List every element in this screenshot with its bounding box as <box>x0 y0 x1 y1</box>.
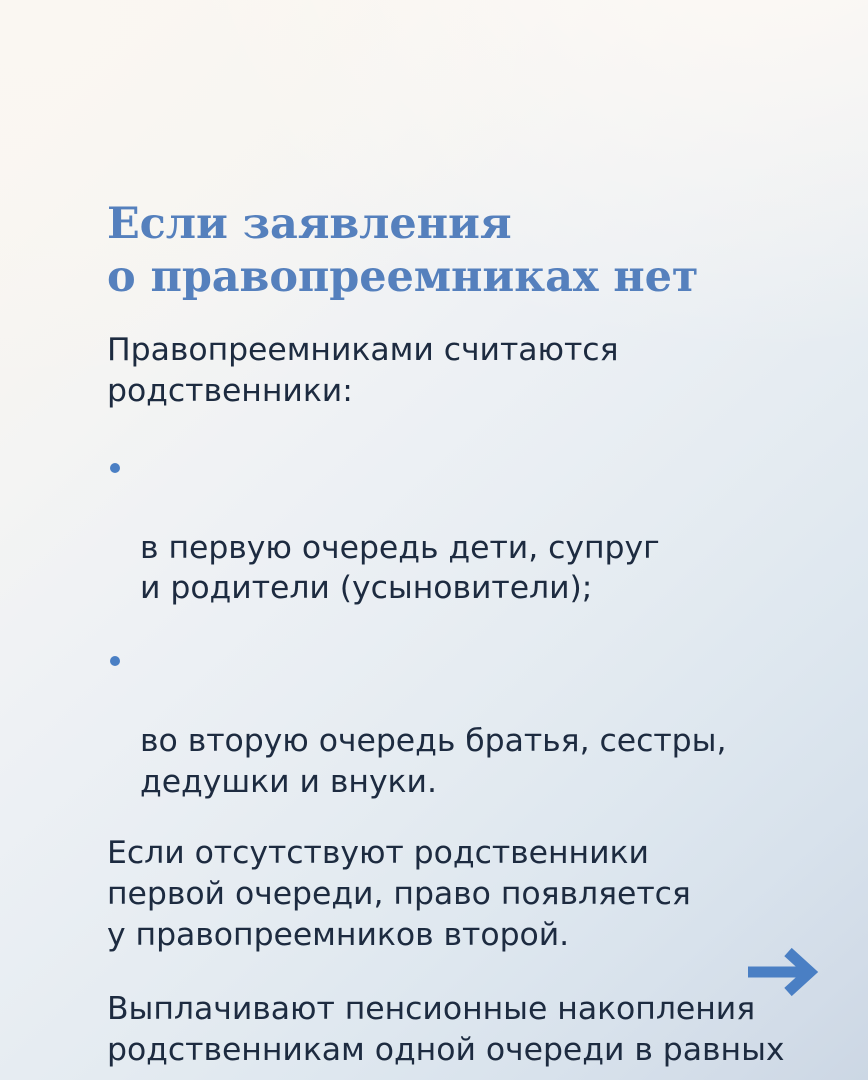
slide-content: Если заявления о правопреемниках нет Пра… <box>107 198 837 1080</box>
list-item-label: во вторую очередь братья, сестры, дедушк… <box>140 723 726 800</box>
list-item: во вторую очередь братья, сестры, дедушк… <box>107 639 837 803</box>
list-item: в первую очередь дети, супруг и родители… <box>107 446 837 610</box>
arrow-right-icon <box>744 944 820 1000</box>
lead-paragraph: Правопреемниками считаются родственники: <box>107 330 837 412</box>
page-title: Если заявления о правопреемниках нет <box>107 198 837 304</box>
equal-shares-paragraph: Выплачивают пенсионные накопления родств… <box>107 989 837 1080</box>
bullet-dot-icon <box>110 656 120 666</box>
slide-canvas: Если заявления о правопреемниках нет Пра… <box>0 0 868 1080</box>
bullet-dot-icon <box>110 463 120 473</box>
list-item-label: в первую очередь дети, супруг и родители… <box>140 530 660 607</box>
next-slide-button[interactable] <box>744 944 820 1000</box>
priority-order-paragraph: Если отсутствуют родственники первой оче… <box>107 833 837 956</box>
heirs-list: в первую очередь дети, супруг и родители… <box>107 446 837 804</box>
